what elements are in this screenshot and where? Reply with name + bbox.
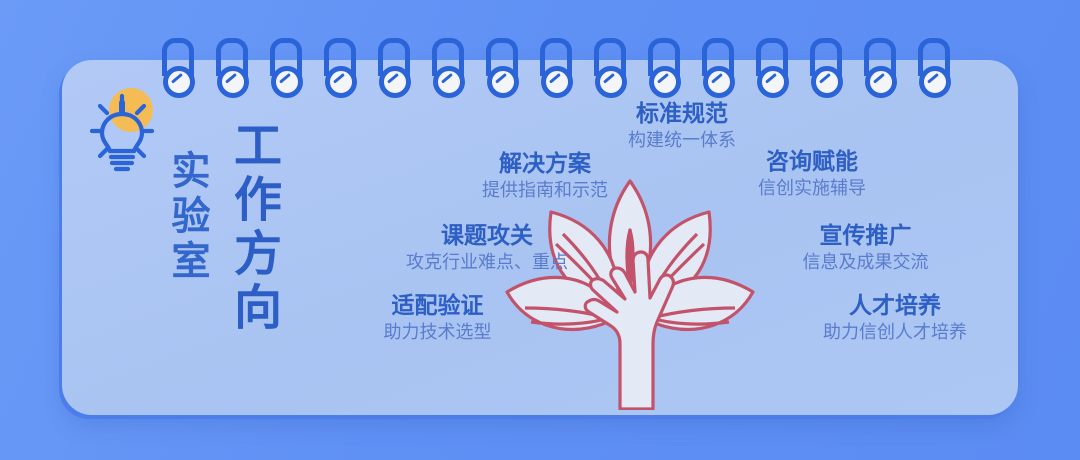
label-talent: 人才培养助力信创人才培养 (780, 292, 1010, 345)
label-promotion: 宣传推广信息及成果交流 (758, 222, 973, 275)
label-research: 课题攻关攻克行业难点、重点 (362, 222, 612, 275)
label-subtitle: 助力信创人才培养 (780, 321, 1010, 344)
label-title: 人才培养 (780, 292, 1010, 318)
label-adaptation: 适配验证助力技术选型 (340, 292, 535, 345)
label-title: 适配验证 (340, 292, 535, 318)
label-subtitle: 信息及成果交流 (758, 251, 973, 274)
label-solution: 解决方案提供指南和示范 (440, 150, 650, 203)
label-title: 宣传推广 (758, 222, 973, 248)
label-title: 课题攻关 (362, 222, 612, 248)
label-subtitle: 提供指南和示范 (440, 179, 650, 202)
lightbulb-icon (88, 84, 158, 176)
label-subtitle: 信创实施辅导 (712, 177, 912, 200)
hand-tree-illustration (505, 178, 755, 410)
label-consulting: 咨询赋能信创实施辅导 (712, 148, 912, 201)
label-title: 解决方案 (440, 150, 650, 176)
vertical-subtitle: 实验室 (168, 150, 207, 285)
vertical-title: 工作方向 (228, 120, 276, 336)
slide-canvas: 实验室 工作方向 (0, 0, 1080, 460)
label-title: 咨询赋能 (712, 148, 912, 174)
label-subtitle: 助力技术选型 (340, 321, 535, 344)
label-title: 标准规范 (582, 100, 782, 126)
label-subtitle: 攻克行业难点、重点 (362, 251, 612, 274)
label-standards: 标准规范构建统一体系 (582, 100, 782, 153)
